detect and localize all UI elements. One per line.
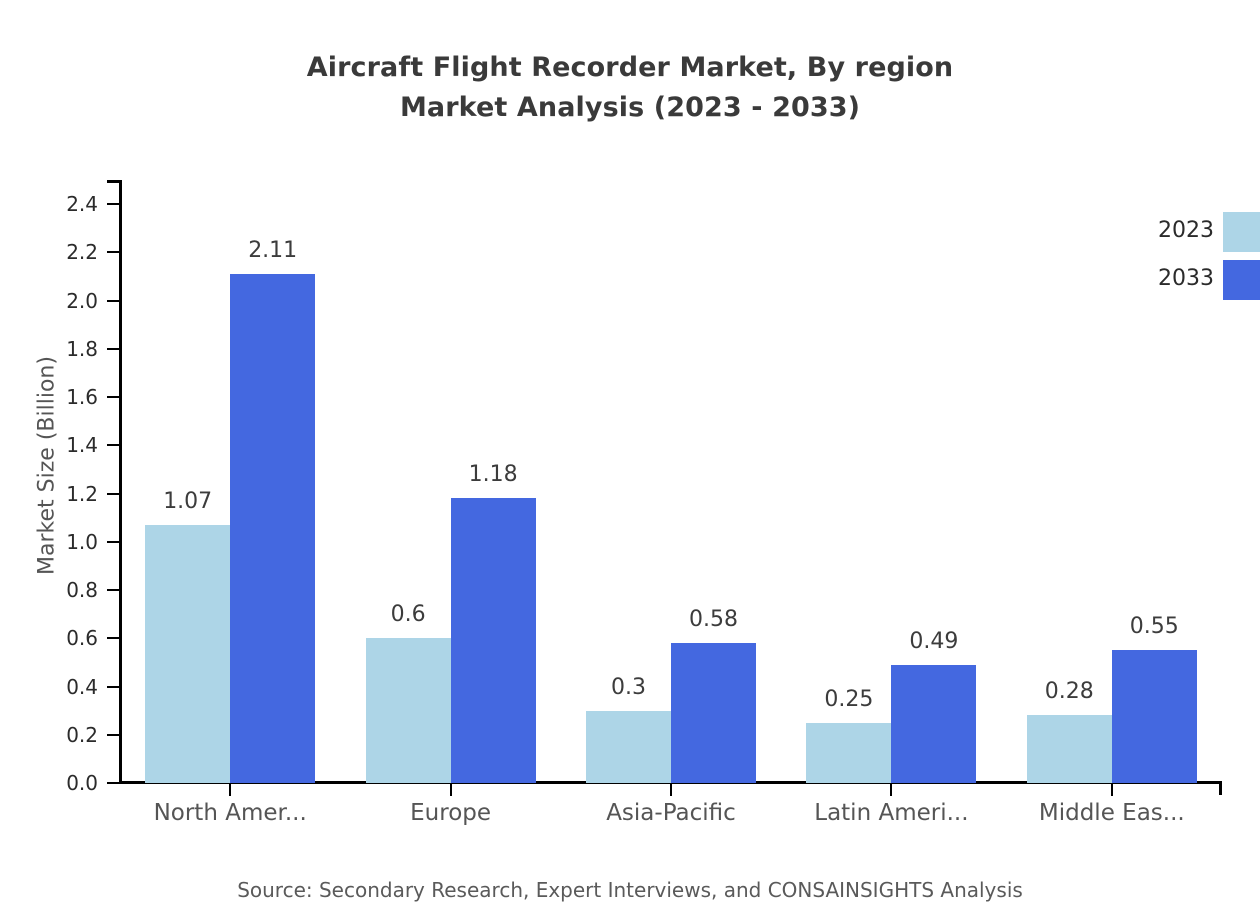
y-axis-tick-mark [107,251,120,253]
y-axis-tick-mark [107,396,120,398]
bar-2023-4[interactable] [1027,715,1112,783]
y-axis-tick-mark [107,589,120,591]
bar-2033-0[interactable] [230,274,315,783]
bar-value-label: 0.58 [634,607,794,632]
chart-title-line-1: Aircraft Flight Recorder Market, By regi… [307,52,953,83]
legend-item-2023[interactable]: 2023 [1130,212,1260,252]
y-axis-tick-label: 0.2 [66,722,98,748]
chart-title-line-2: Market Analysis (2023 - 2033) [0,88,1260,128]
y-axis-tick-label: 0.8 [66,577,98,603]
bar-2033-3[interactable] [891,665,976,783]
x-axis-tick-mark [1111,783,1113,796]
bar-2033-1[interactable] [451,498,536,783]
bar-2023-2[interactable] [586,711,671,783]
y-axis-tick-mark [107,300,120,302]
y-axis-tick-mark [107,203,120,205]
y-axis-title: Market Size (Billion) [35,166,60,766]
chart-title: Aircraft Flight Recorder Market, By regi… [0,48,1260,128]
y-axis-tick-mark [107,734,120,736]
y-axis-tick-mark [107,444,120,446]
y-axis-tick-label: 2.4 [66,191,98,217]
bar-2033-2[interactable] [671,643,756,783]
y-axis-tick-label: 1.4 [66,432,98,458]
bar-value-label: 0.55 [1074,614,1234,639]
y-axis-tick-label: 1.8 [66,336,98,362]
y-axis-tick-label: 1.2 [66,481,98,507]
y-axis-tick-mark [107,782,120,784]
y-axis-top-cap [107,180,121,183]
y-axis-tick-label: 1.0 [66,529,98,555]
y-axis-tick-mark [107,348,120,350]
y-axis-tick-label: 0.4 [66,674,98,700]
bar-chart: Aircraft Flight Recorder Market, By regi… [0,0,1260,920]
bar-2023-1[interactable] [366,638,451,783]
y-axis-tick-label: 0.0 [66,770,98,796]
legend: 2023 2033 [1130,212,1260,308]
y-axis-tick-mark [107,686,120,688]
legend-label-2023: 2023 [1130,218,1214,243]
y-axis-tick-mark [107,637,120,639]
x-axis-tick-mark [670,783,672,796]
y-axis-tick-label: 2.0 [66,288,98,314]
y-axis-tick-label: 2.2 [66,239,98,265]
legend-swatch-2033 [1223,260,1260,300]
y-axis-tick-label: 1.6 [66,384,98,410]
x-axis-tick-mark [229,783,231,796]
bar-value-label: 1.18 [413,462,573,487]
y-axis-spine [119,180,122,784]
x-axis-right-cap [1219,781,1222,795]
bar-value-label: 0.49 [854,629,1014,654]
y-axis-tick-mark [107,541,120,543]
legend-swatch-2023 [1223,212,1260,252]
x-axis-tick-mark [890,783,892,796]
bar-value-label: 2.11 [193,238,353,263]
x-axis-tick-mark [450,783,452,796]
bar-2033-4[interactable] [1112,650,1197,783]
bar-2023-0[interactable] [145,525,230,783]
legend-label-2033: 2033 [1130,266,1214,291]
y-axis-tick-label: 0.6 [66,625,98,651]
legend-item-2033[interactable]: 2033 [1130,260,1260,300]
x-axis-tick-label: Middle Eas... [982,800,1242,826]
source-note: Source: Secondary Research, Expert Inter… [0,878,1260,902]
bar-2023-3[interactable] [806,723,891,783]
